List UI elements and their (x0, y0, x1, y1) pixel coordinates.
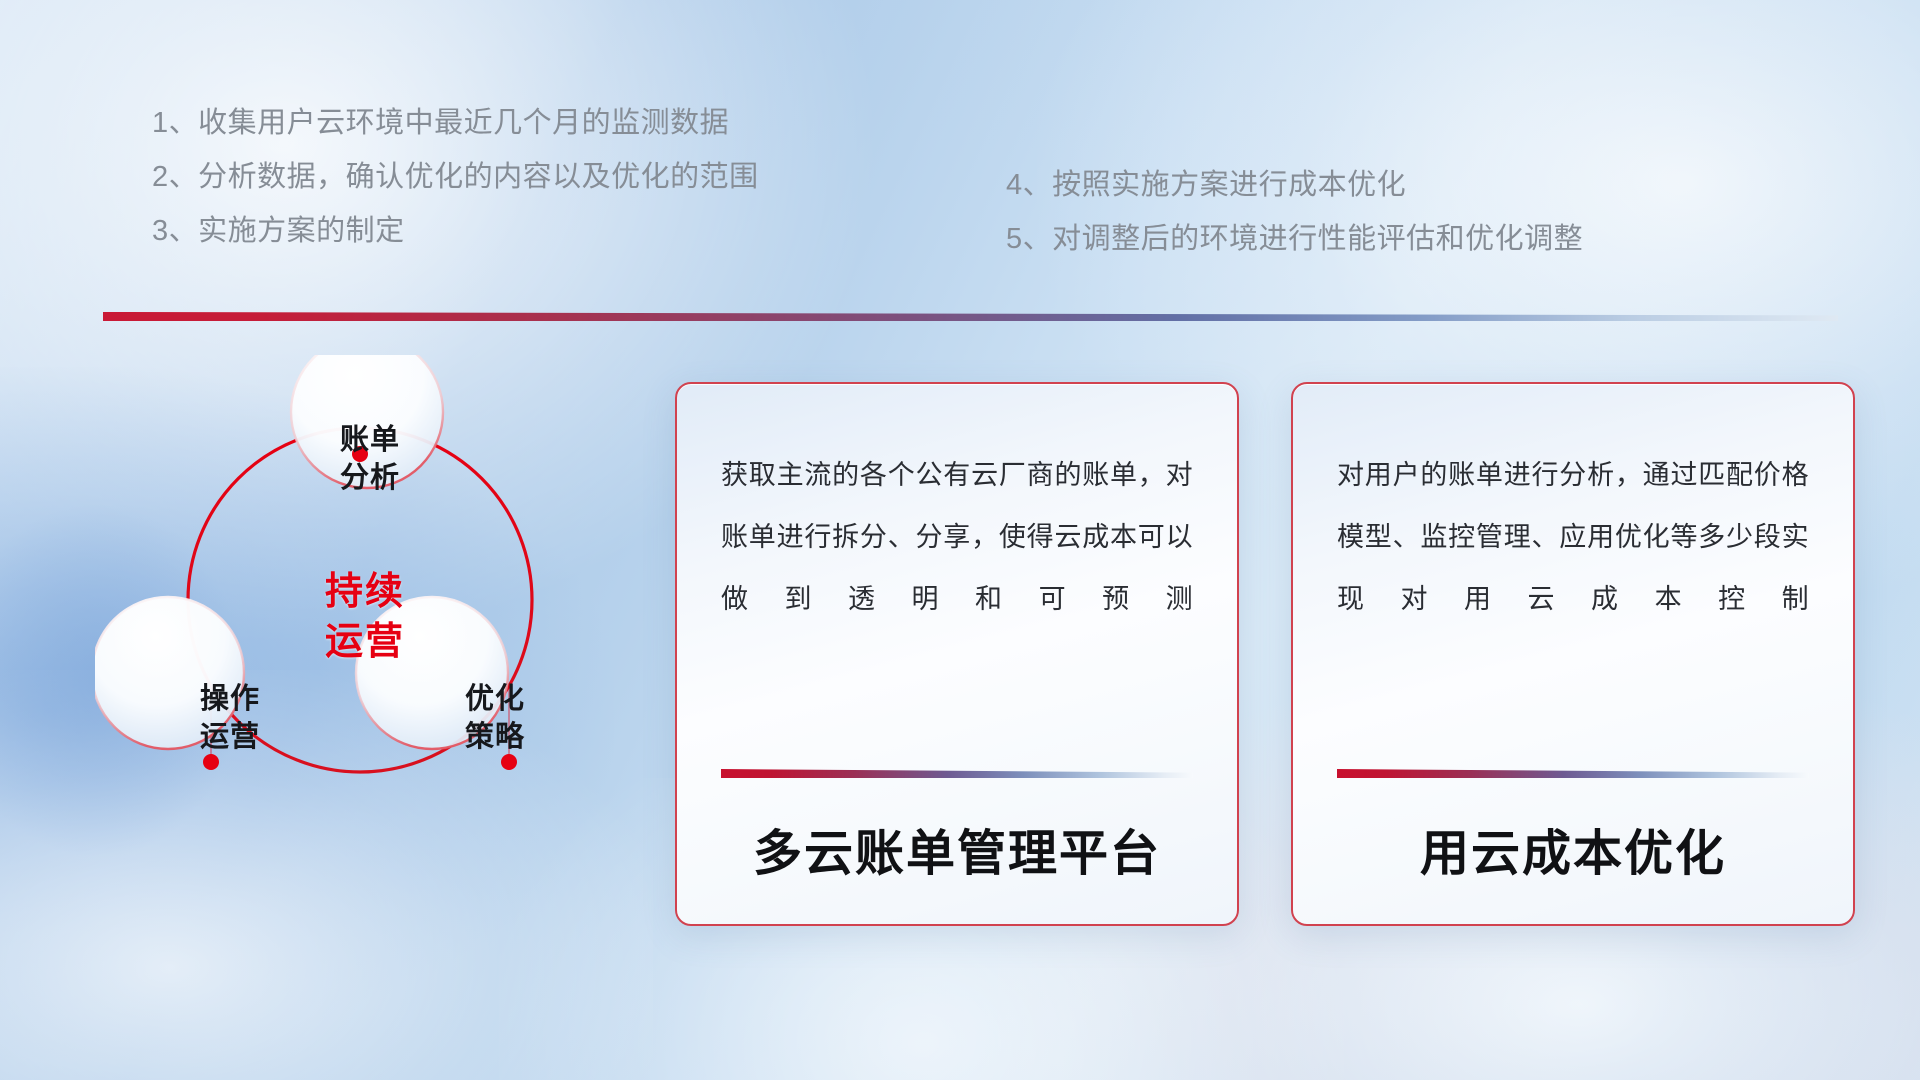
feature-cards: 获取主流的各个公有云厂商的账单，对账单进行拆分、分享，使得云成本可以做到透明和可… (675, 382, 1875, 922)
diagram-node-label-billing-analysis: 账单 分析 (280, 421, 460, 497)
card-divider-rule (1337, 769, 1809, 778)
card-content: 对用户的账单进行分析，通过匹配价格模型、监控管理、应用优化等多少段实现对用云成本… (1293, 384, 1853, 924)
card-multi-cloud-billing-platform[interactable]: 获取主流的各个公有云厂商的账单，对账单进行拆分、分享，使得云成本可以做到透明和可… (675, 382, 1239, 926)
step-item-2: 2、分析数据，确认优化的内容以及优化的范围 (152, 150, 759, 204)
steps-left-column: 1、收集用户云环境中最近几个月的监测数据 2、分析数据，确认优化的内容以及优化的… (152, 96, 759, 258)
continuous-operations-diagram: 账单 分析 持续 运营 操作 运营 优化 策略 (95, 355, 615, 915)
diagram-node-label-operations: 操作 运营 (150, 680, 310, 756)
step-item-5: 5、对调整后的环境进行性能评估和优化调整 (1006, 212, 1583, 266)
step-item-4: 4、按照实施方案进行成本优化 (1006, 158, 1583, 212)
diagram-center-label: 持续 运营 (240, 567, 490, 667)
card-title: 用云成本优化 (1337, 824, 1809, 884)
step-item-1: 1、收集用户云环境中最近几个月的监测数据 (152, 96, 759, 150)
steps-right-column: 4、按照实施方案进行成本优化 5、对调整后的环境进行性能评估和优化调整 (1006, 158, 1583, 266)
card-title: 多云账单管理平台 (721, 824, 1193, 884)
step-item-3: 3、实施方案的制定 (152, 204, 759, 258)
node-dot-left (203, 754, 219, 770)
process-steps: 1、收集用户云环境中最近几个月的监测数据 2、分析数据，确认优化的内容以及优化的… (0, 0, 1920, 260)
card-body-text: 对用户的账单进行分析，通过匹配价格模型、监控管理、应用优化等多少段实现对用云成本… (1337, 444, 1809, 630)
card-cloud-cost-optimization[interactable]: 对用户的账单进行分析，通过匹配价格模型、监控管理、应用优化等多少段实现对用云成本… (1291, 382, 1855, 926)
diagram-node-label-optimization-strategy: 优化 策略 (415, 680, 575, 756)
node-dot-right (501, 754, 517, 770)
card-content: 获取主流的各个公有云厂商的账单，对账单进行拆分、分享，使得云成本可以做到透明和可… (677, 384, 1237, 924)
card-divider-rule (721, 769, 1193, 778)
card-body-text: 获取主流的各个公有云厂商的账单，对账单进行拆分、分享，使得云成本可以做到透明和可… (721, 444, 1193, 630)
